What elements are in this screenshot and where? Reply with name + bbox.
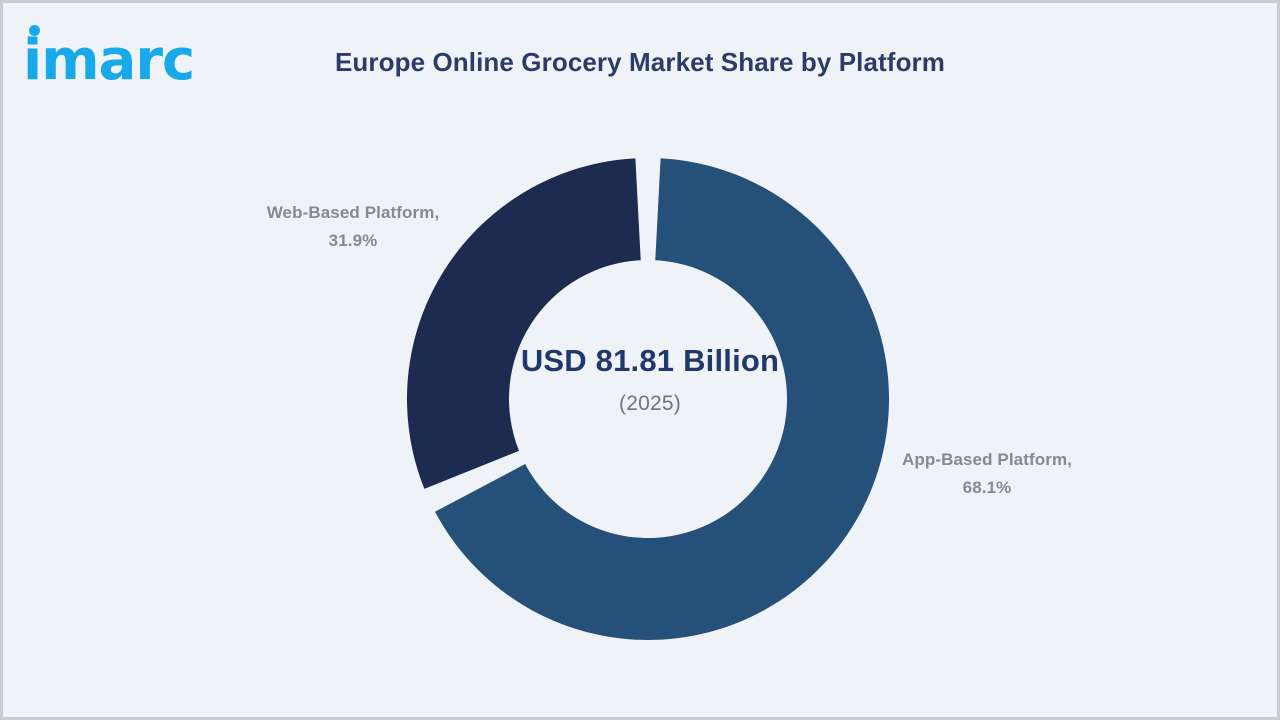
slice-label-app-based: App-Based Platform, 68.1% bbox=[887, 446, 1087, 501]
donut-chart-svg bbox=[3, 3, 1277, 717]
chart-canvas: imarc Europe Online Grocery Market Share… bbox=[3, 3, 1277, 717]
slice-label-web-based: Web-Based Platform, 31.9% bbox=[253, 199, 453, 254]
donut-chart bbox=[3, 3, 1277, 717]
